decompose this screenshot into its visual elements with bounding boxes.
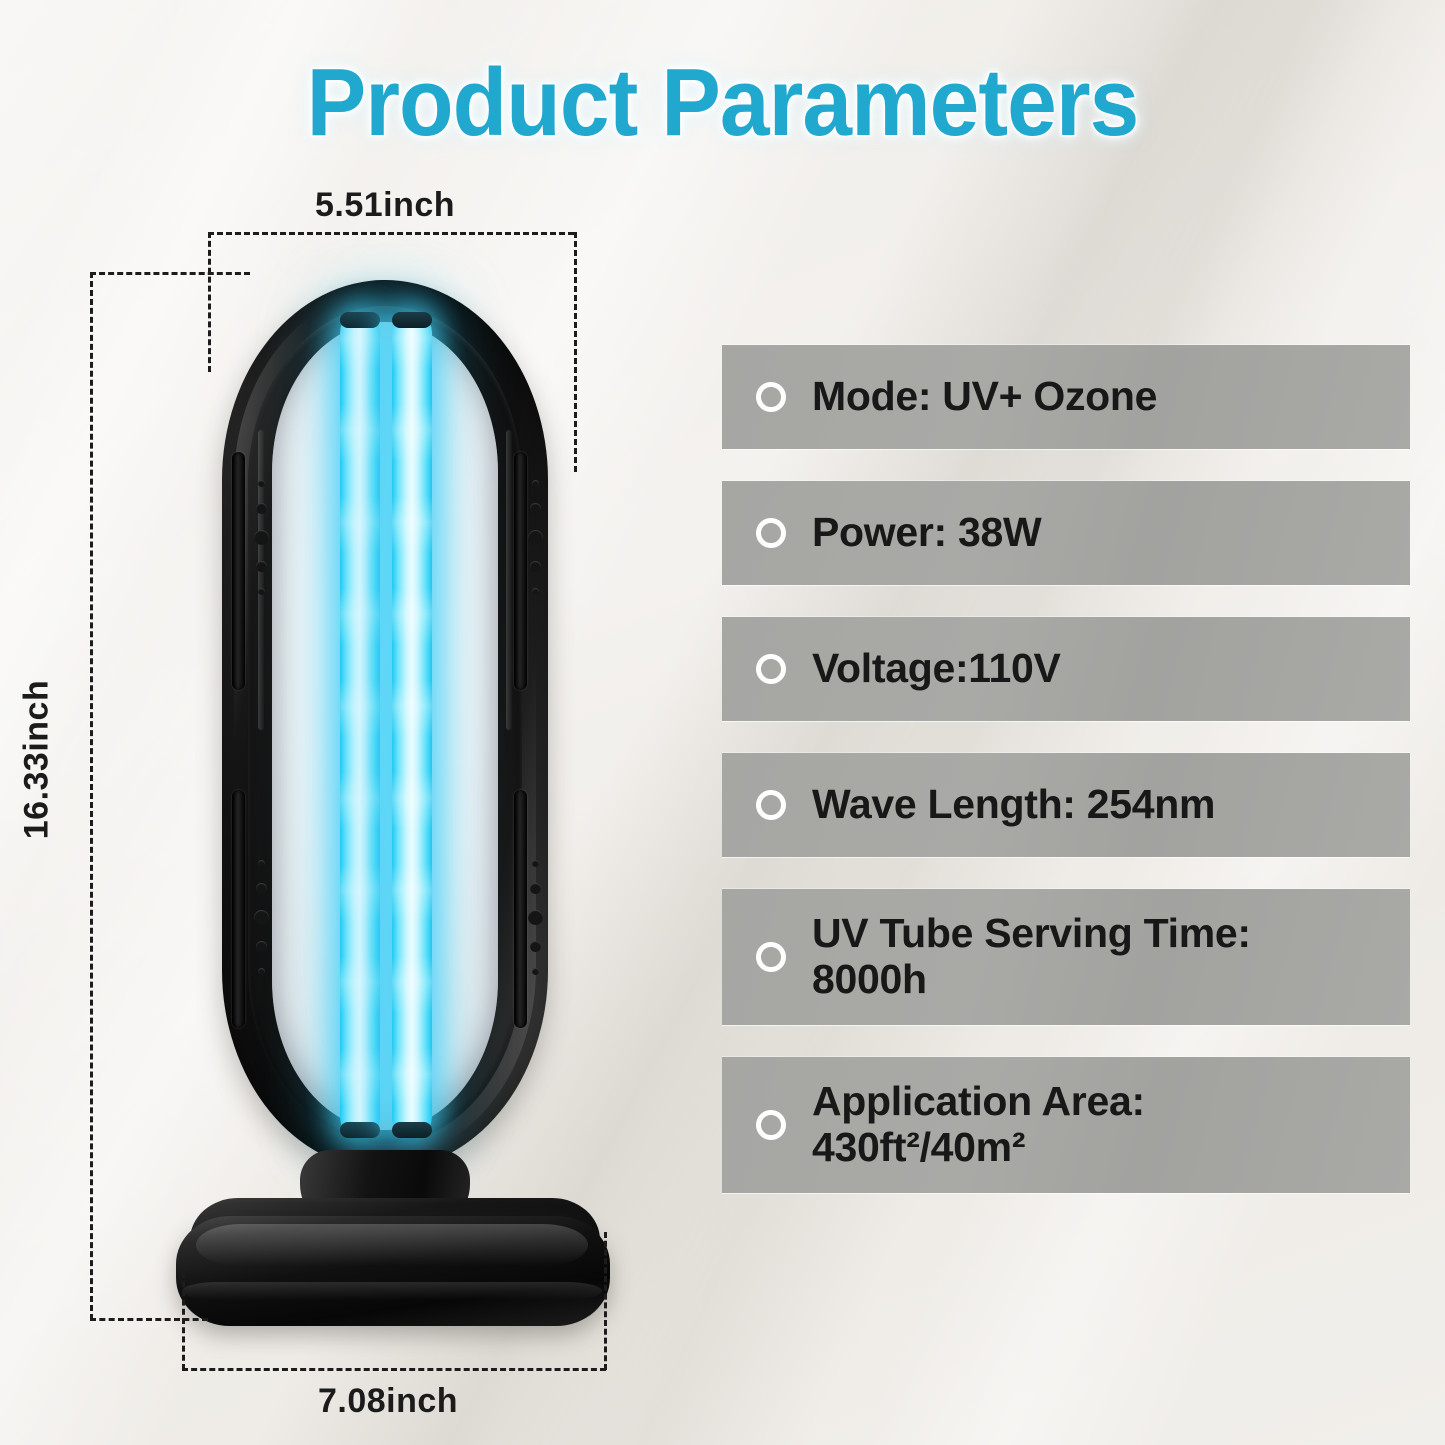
lamp-base-band [182,1282,602,1300]
spec-row-serving-time: UV Tube Serving Time: 8000h [722,889,1410,1025]
lamp-dot [254,530,269,545]
uv-tube-banding [392,312,432,1138]
spec-line-1: Application Area: [812,1078,1145,1124]
dimension-label-height: 16.33inch [18,645,57,875]
dimension-tick-top-left [208,232,211,372]
lamp-dot-column [524,860,546,975]
spec-label-application-area: Application Area: 430ft²/40m² [812,1079,1145,1171]
spec-line-2: 430ft²/40m² [812,1125,1145,1171]
cavity-inner-shadow [272,322,498,1130]
lamp-dot [256,883,267,894]
circle-bullet-icon [756,790,786,820]
lamp-dot [530,561,541,572]
spec-label-wavelength: Wave Length: 254nm [812,782,1215,828]
uv-tube-cap-top [392,312,432,328]
spec-label-serving-time: UV Tube Serving Time: 8000h [812,911,1251,1003]
lamp-dot [530,883,541,894]
lamp-dot [532,588,539,595]
spec-label-power: Power: 38W [812,510,1041,556]
dimension-line-top-width [208,232,574,235]
lamp-dot [256,503,267,514]
spec-row-voltage: Voltage:110V [722,617,1410,721]
lamp-dot [256,941,267,952]
dimension-label-top-width: 5.51inch [315,186,455,225]
lamp-vent-slot [232,452,245,690]
lamp-vent-slot [232,790,245,1028]
circle-bullet-icon [756,654,786,684]
lamp-dot [530,941,541,952]
spec-list: Mode: UV+ Ozone Power: 38W Voltage:110V … [722,345,1410,1225]
uv-tube-right [392,312,432,1138]
spec-row-wavelength: Wave Length: 254nm [722,753,1410,857]
lamp-dot [528,910,543,925]
dimension-label-base-width: 7.08inch [318,1382,458,1421]
lamp-dot [528,530,543,545]
uv-tube-cap-bottom [392,1122,432,1138]
circle-bullet-icon [756,518,786,548]
lamp-dot-column [524,480,546,595]
spec-row-application-area: Application Area: 430ft²/40m² [722,1057,1410,1193]
circle-bullet-icon [756,942,786,972]
spec-row-mode: Mode: UV+ Ozone [722,345,1410,449]
lamp-dot [258,480,265,487]
lamp-dot-column [250,480,272,595]
dimension-line-height [90,272,93,1320]
lamp-dot [258,860,265,867]
spec-line-2: 8000h [812,957,1251,1003]
lamp-dot [258,968,265,975]
circle-bullet-icon [756,1110,786,1140]
spec-row-power: Power: 38W [722,481,1410,585]
lamp-dot [254,910,269,925]
infographic-canvas: Product Parameters [0,0,1445,1445]
lamp-dot [532,860,539,867]
uv-tube-cap-bottom [340,1122,380,1138]
dimension-tick-base-right [604,1232,607,1370]
dimension-tick-top-right [574,232,577,472]
uv-tube-banding [340,312,380,1138]
lamp-dot [530,503,541,514]
spec-line-1: UV Tube Serving Time: [812,910,1251,956]
lamp-dot-column [250,860,272,975]
circle-bullet-icon [756,382,786,412]
dimension-tick-base-left [182,1272,185,1370]
dimension-line-base-width [182,1368,606,1371]
lamp-inner-cavity [272,322,498,1130]
uv-tube-left [340,312,380,1138]
lamp-dot [532,480,539,487]
dimension-tick-height-bottom [90,1318,208,1321]
spec-label-voltage: Voltage:110V [812,646,1061,692]
uv-tube-cap-top [340,312,380,328]
lamp-dot [256,561,267,572]
spec-label-mode: Mode: UV+ Ozone [812,374,1157,420]
lamp-dot [532,968,539,975]
dimension-tick-height-top [90,272,250,275]
lamp-dot [258,588,265,595]
lamp-base-highlight [196,1224,588,1266]
lamp-rib-right [506,430,512,730]
